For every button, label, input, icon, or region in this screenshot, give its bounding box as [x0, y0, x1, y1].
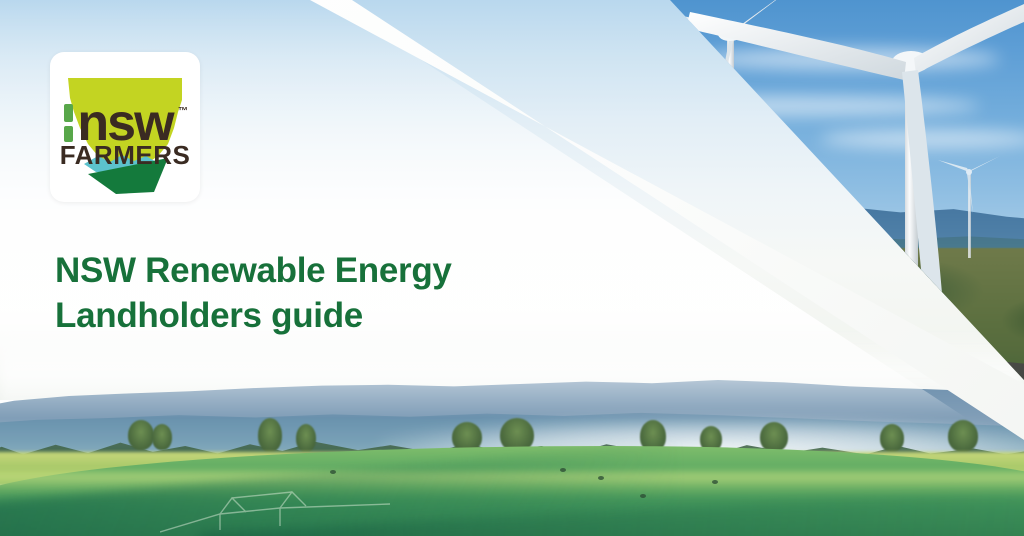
gum-tree: [948, 420, 978, 452]
nsw-farmers-logo-icon: nsw ™ FARMERS: [50, 52, 200, 202]
gum-tree: [258, 418, 282, 452]
gum-tree: [152, 424, 172, 450]
grazing-stock: [598, 476, 604, 480]
gum-tree: [880, 424, 904, 452]
grazing-stock: [330, 470, 336, 474]
gum-tree: [760, 422, 788, 452]
svg-text:™: ™: [178, 106, 188, 117]
report-cover: nsw ™ FARMERS NSW Renewable Energy Landh…: [0, 0, 1024, 536]
page-title: NSW Renewable Energy Landholders guide: [55, 249, 595, 339]
wind-turbine-far: [938, 156, 1000, 258]
grazing-stock: [712, 480, 718, 484]
irrigator-icon: [160, 478, 390, 536]
grazing-stock: [640, 494, 646, 498]
gum-tree: [296, 424, 316, 452]
grazing-stock: [560, 468, 566, 472]
page-title-line-1: NSW Renewable Energy: [55, 249, 595, 294]
gum-tree: [128, 420, 154, 450]
page-title-line-2: Landholders guide: [55, 294, 595, 339]
nsw-farmers-logo: nsw ™ FARMERS: [50, 52, 200, 202]
svg-text:FARMERS: FARMERS: [60, 140, 191, 170]
